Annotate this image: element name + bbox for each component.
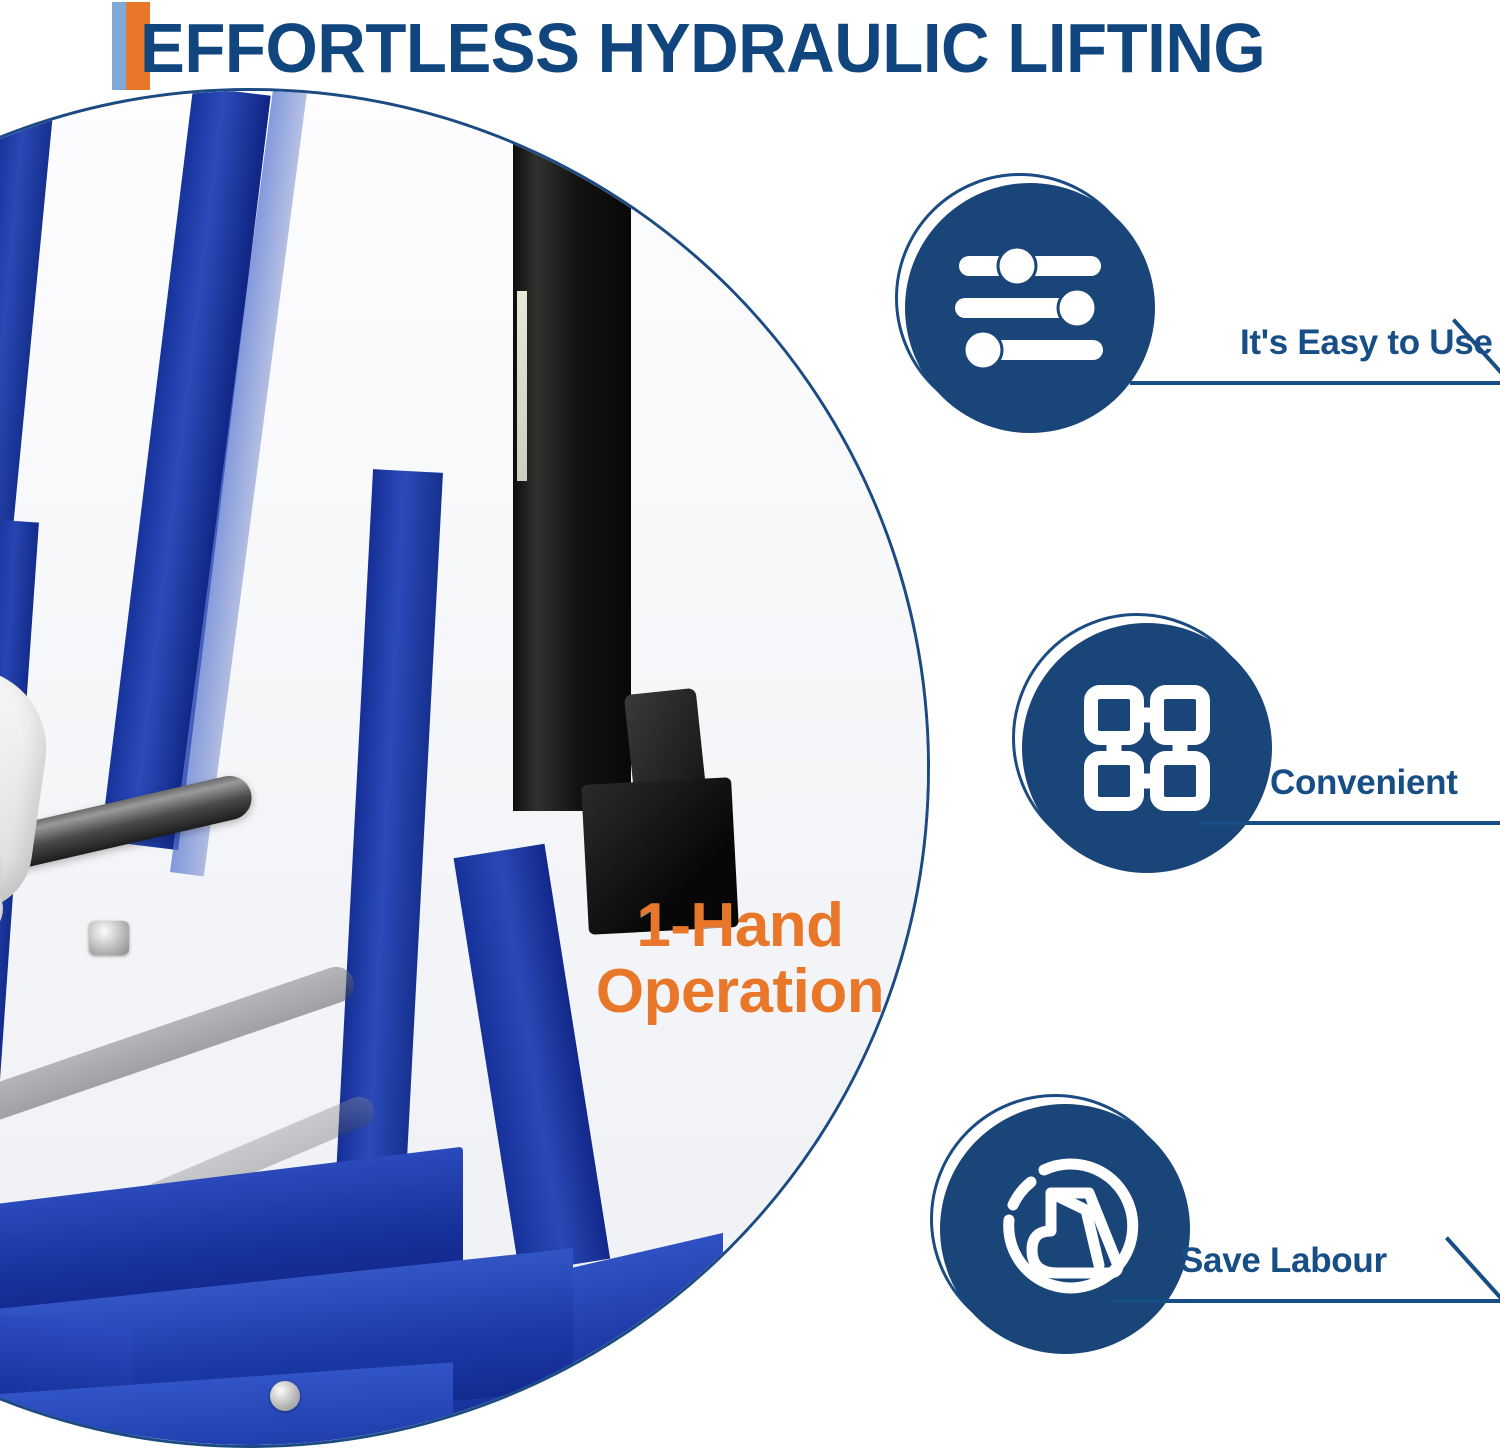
hex-bolt: [5, 1413, 35, 1439]
feature-tick-stroke: [1445, 1236, 1500, 1307]
no-manual-labour-icon: [989, 1153, 1141, 1305]
feature-icon-disc: [905, 183, 1155, 433]
sliders-icon: [955, 242, 1105, 374]
hex-bolt: [270, 1381, 300, 1411]
mast-sticker: [517, 291, 527, 481]
gloved-hand: [0, 648, 57, 918]
feature-underline: [1200, 821, 1500, 825]
feature-label: It's Easy to Use: [1240, 323, 1493, 363]
hydraulic-mast-post: [513, 91, 631, 811]
jack-frame-upright-center: [336, 469, 443, 1172]
feature-icon-disc: [940, 1104, 1190, 1354]
product-photo-circle: [0, 88, 930, 1448]
jack-frame-leg-outer-left: [0, 89, 55, 572]
callout-line-1: 1-Hand: [545, 893, 935, 959]
network-nodes-icon: [1080, 681, 1214, 815]
one-hand-operation-callout: 1-Hand Operation: [545, 893, 935, 1026]
callout-line-2: Operation: [545, 959, 935, 1025]
feature-underline: [1130, 381, 1500, 385]
page-header: EFFORTLESS HYDRAULIC LIFTING: [0, 0, 1500, 100]
feature-underline: [1112, 1299, 1500, 1303]
feature-label: Convenient: [1270, 763, 1458, 803]
page-title: EFFORTLESS HYDRAULIC LIFTING: [140, 0, 1265, 98]
hex-bolt: [89, 921, 129, 955]
feature-icon-disc: [1022, 623, 1272, 873]
feature-label: Save Labour: [1180, 1241, 1387, 1281]
lever-motion-ghost-upper: [0, 962, 359, 1191]
product-photo: [0, 91, 927, 1445]
